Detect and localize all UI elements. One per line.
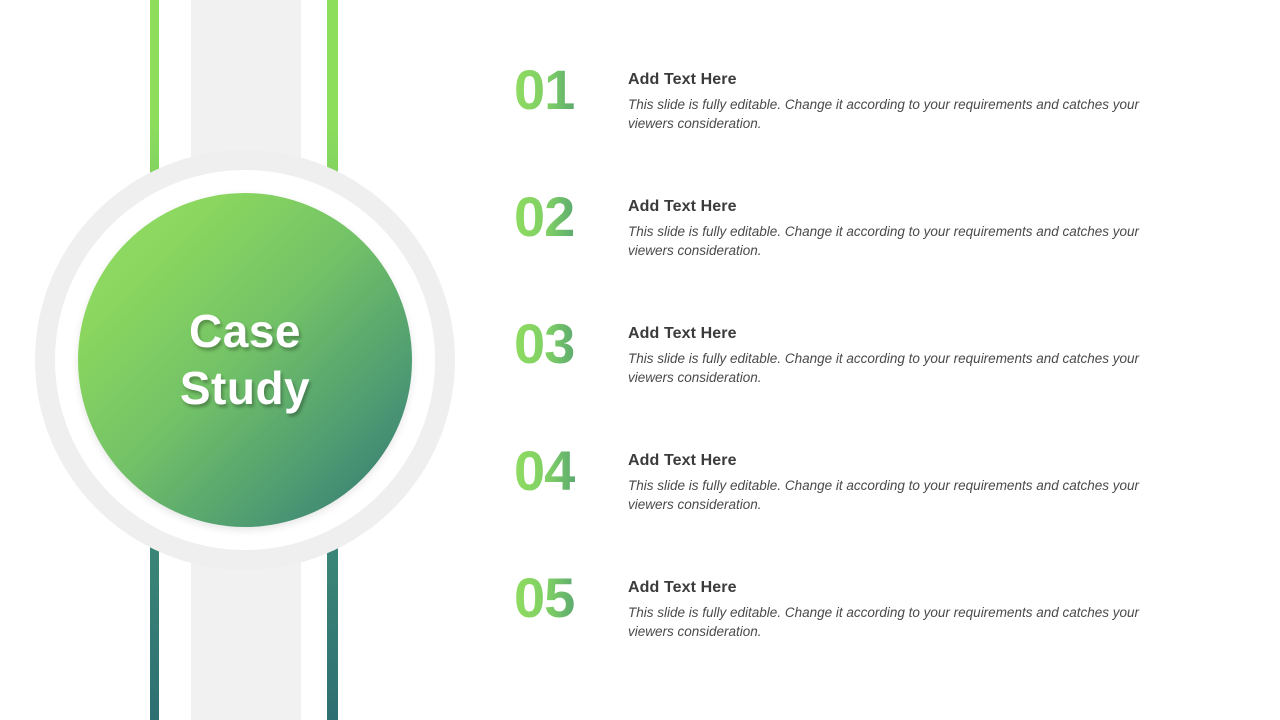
case-study-circle[interactable]: Case Study [78,193,412,527]
slide-canvas: Case Study 01 Add Text Here This slide i… [0,0,1280,720]
case-study-label-line1: Case [189,305,301,357]
item-title: Add Text Here [628,579,1158,597]
numbered-item-list: 01 Add Text Here This slide is fully edi… [514,62,1214,697]
item-description: This slide is fully editable. Change it … [628,476,1158,514]
list-item[interactable]: 03 Add Text Here This slide is fully edi… [514,316,1214,443]
item-title: Add Text Here [628,198,1158,216]
list-item[interactable]: 02 Add Text Here This slide is fully edi… [514,189,1214,316]
item-body: Add Text Here This slide is fully editab… [628,71,1158,133]
list-item[interactable]: 04 Add Text Here This slide is fully edi… [514,443,1214,570]
item-title: Add Text Here [628,325,1158,343]
item-number: 03 [514,316,614,372]
list-item[interactable]: 01 Add Text Here This slide is fully edi… [514,62,1214,189]
item-number: 02 [514,189,614,245]
case-study-label-line2: Study [180,362,310,414]
case-study-label: Case Study [180,303,310,418]
list-item[interactable]: 05 Add Text Here This slide is fully edi… [514,570,1214,697]
item-description: This slide is fully editable. Change it … [628,603,1158,641]
item-body: Add Text Here This slide is fully editab… [628,579,1158,641]
item-title: Add Text Here [628,452,1158,470]
item-body: Add Text Here This slide is fully editab… [628,325,1158,387]
decorative-graphic: Case Study [0,0,470,720]
item-number: 05 [514,570,614,626]
item-description: This slide is fully editable. Change it … [628,222,1158,260]
item-title: Add Text Here [628,71,1158,89]
item-description: This slide is fully editable. Change it … [628,95,1158,133]
item-description: This slide is fully editable. Change it … [628,349,1158,387]
item-body: Add Text Here This slide is fully editab… [628,198,1158,260]
item-body: Add Text Here This slide is fully editab… [628,452,1158,514]
item-number: 01 [514,62,614,118]
item-number: 04 [514,443,614,499]
